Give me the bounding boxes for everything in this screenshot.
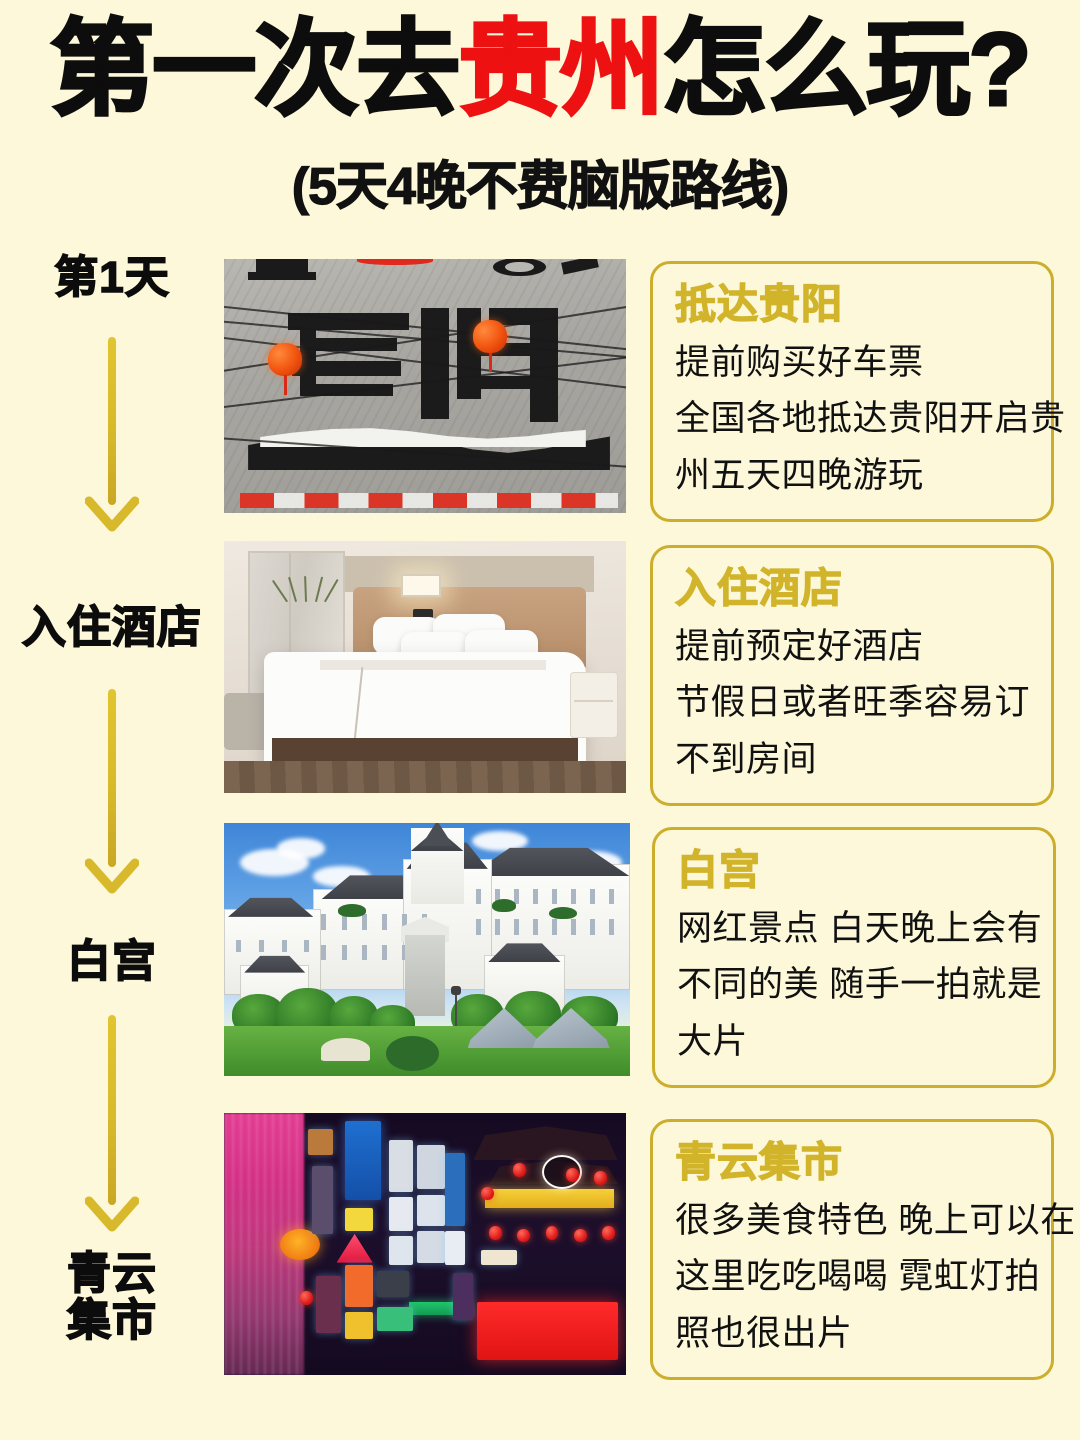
- title-highlight-guizhou: 贵州: [458, 12, 662, 128]
- info-card-hotel[interactable]: 入住酒店 提前预定好酒店 节假日或者旺季容易订 不到房间: [650, 545, 1054, 805]
- card-line: 很多美食特色 晚上可以在: [675, 1193, 1029, 1250]
- page-header: 第一次去贵州怎么玩? (5天4晚不费脑版路线): [0, 0, 1080, 219]
- step-column: 青云 集市: [0, 1105, 224, 1395]
- wall-lamp-icon: [401, 574, 441, 597]
- card-line: 全国各地抵达贵阳开启贵: [675, 391, 1029, 448]
- step-label-day1: 第1天: [0, 255, 224, 302]
- neon-sign-red-bbq: [477, 1302, 618, 1360]
- step-column: 白宫: [0, 819, 224, 1105]
- step-label-qingyun-market: 青云 集市: [0, 1251, 224, 1344]
- page-title: 第一次去贵州怎么玩?: [0, 14, 1080, 126]
- timeline-row: 白宫: [0, 819, 1080, 1105]
- card-line: 大片: [677, 1014, 1031, 1071]
- step-label-hotel: 入住酒店: [0, 605, 224, 652]
- timeline-row: 入住酒店: [0, 533, 1080, 819]
- red-lantern-icon: [517, 1229, 530, 1243]
- red-lantern-icon: [566, 1168, 579, 1182]
- timeline-row: 青云 集市: [0, 1105, 1080, 1395]
- card-line: 提前预定好酒店: [675, 619, 1029, 676]
- red-lantern-icon: [574, 1229, 587, 1243]
- red-lantern-icon: [546, 1226, 559, 1240]
- hotel-room-photo: [224, 541, 626, 793]
- card-title: 入住酒店: [675, 564, 1029, 612]
- card-line: 州五天四晚游玩: [675, 448, 1029, 505]
- qingyun-market-photo: [224, 1113, 626, 1375]
- red-lantern-icon: [513, 1163, 526, 1177]
- card-line: 这里吃吃喝喝 霓虹灯拍: [675, 1249, 1029, 1306]
- neon-sign-blue: [345, 1121, 381, 1200]
- card-title: 抵达贵阳: [675, 280, 1029, 328]
- red-lantern-icon: [489, 1226, 502, 1240]
- chevron-down-icon: [85, 495, 139, 535]
- timeline-row: 第1天: [0, 247, 1080, 533]
- card-line: 不到房间: [675, 732, 1029, 789]
- step-label-white-palace: 白宫: [0, 939, 224, 986]
- card-line: 网红景点 白天晚上会有: [677, 901, 1031, 958]
- red-lantern-icon: [300, 1291, 313, 1305]
- step-column: 第1天: [0, 247, 224, 533]
- neon-sign-triangle-red: [337, 1234, 373, 1263]
- info-card-qingyun-market[interactable]: 青云集市 很多美食特色 晚上可以在 这里吃吃喝喝 霓虹灯拍 照也很出片: [650, 1119, 1054, 1379]
- red-lantern-icon: [268, 343, 302, 376]
- page-subtitle: (5天4晚不费脑版路线): [0, 144, 1080, 219]
- red-lantern-icon: [473, 320, 507, 353]
- red-lantern-icon: [602, 1226, 615, 1240]
- step-column: 入住酒店: [0, 533, 224, 819]
- info-card-white-palace[interactable]: 白宫 网红景点 白天晚上会有 不同的美 随手一拍就是 大片: [652, 827, 1056, 1087]
- title-part-after: 怎么玩?: [662, 12, 1030, 128]
- card-title: 白宫: [677, 846, 1031, 894]
- info-card-day1[interactable]: 抵达贵阳 提前购买好车票 全国各地抵达贵阳开启贵 州五天四晚游玩: [650, 261, 1054, 521]
- red-lantern-icon: [594, 1171, 607, 1185]
- card-line: 提前购买好车票: [675, 335, 1029, 392]
- neon-sign-yellow-restaurant: [485, 1189, 614, 1207]
- itinerary-timeline: 第1天: [0, 247, 1080, 1395]
- title-part-before: 第一次去: [50, 12, 458, 128]
- white-palace-photo: [224, 823, 630, 1076]
- card-line: 照也很出片: [675, 1306, 1029, 1363]
- card-line: 不同的美 随手一拍就是: [677, 957, 1031, 1014]
- guiyang-calligraphy-wall-photo: [224, 259, 626, 513]
- card-title: 青云集市: [675, 1138, 1029, 1186]
- card-line: 节假日或者旺季容易订: [675, 675, 1029, 732]
- street-lamp-icon: [455, 993, 457, 1026]
